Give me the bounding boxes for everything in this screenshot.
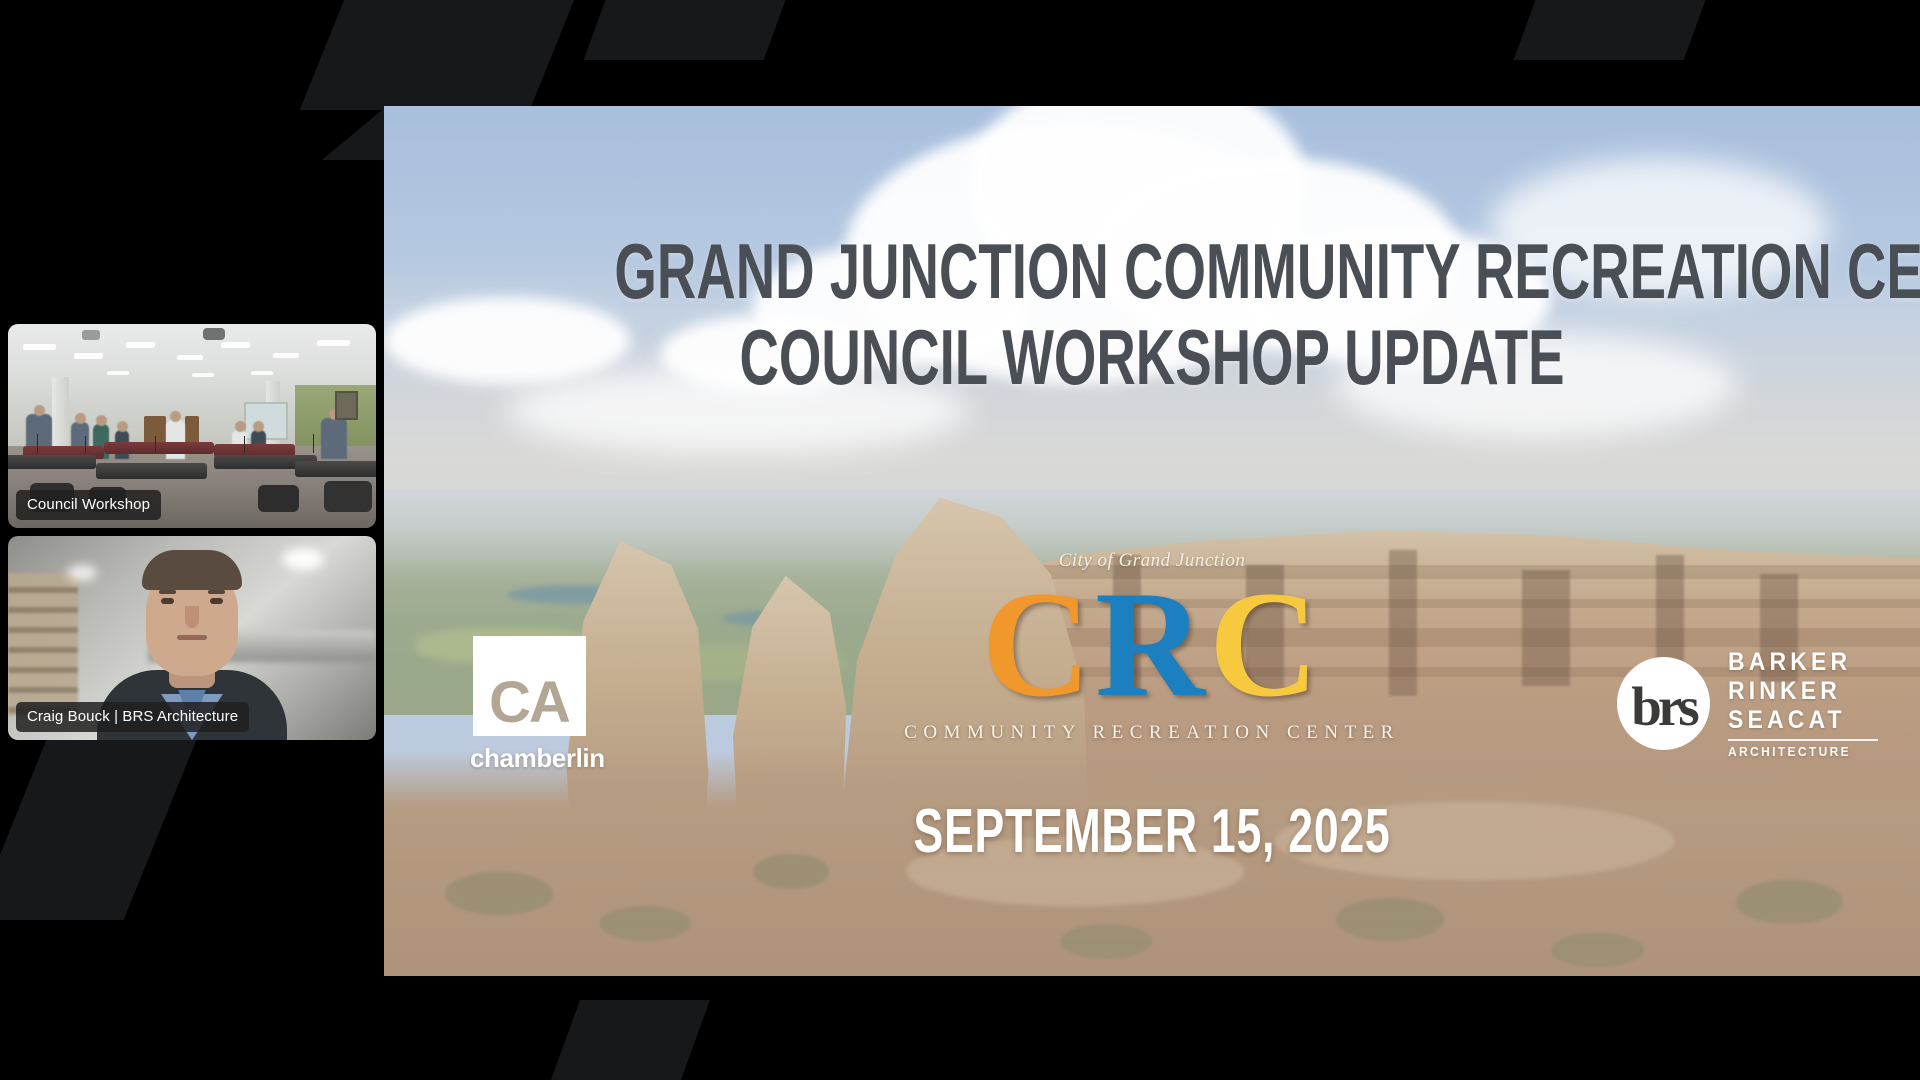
letterbox-shape [584,0,797,60]
participant-tile-craig-bouck[interactable]: Craig Bouck | BRS Architecture [8,536,376,740]
letterbox-shape [540,1000,710,1080]
screen-share-view: Council Workshop [0,0,1920,1080]
participant-video-rail: Council Workshop [8,0,384,1080]
participant-tile-council-workshop[interactable]: Council Workshop [8,324,376,528]
participant-name-label: Craig Bouck | BRS Architecture [16,702,249,732]
participant-name-label: Council Workshop [16,490,161,520]
shared-presentation-slide[interactable]: GRAND JUNCTION COMMUNITY RECREATION CENT… [384,106,1920,976]
letterbox-shape [1514,0,1717,60]
